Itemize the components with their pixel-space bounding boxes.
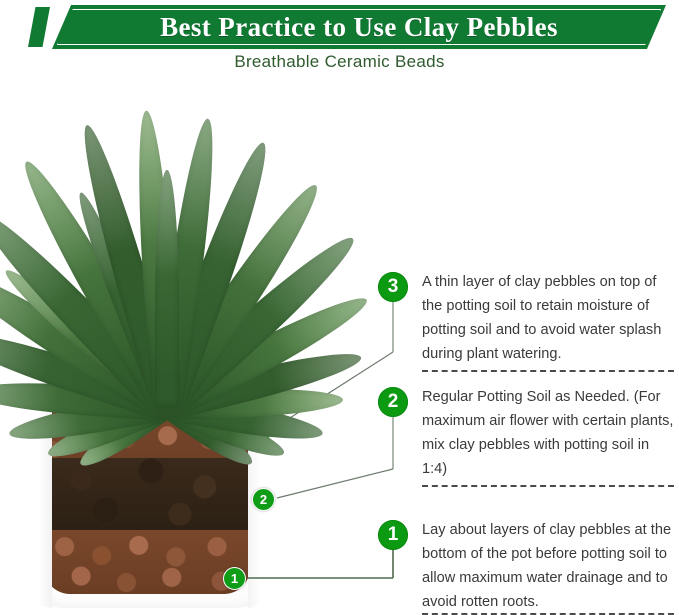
callout-2-divider [422,485,674,487]
callout-2-text: Regular Potting Soil as Needed. (For max… [422,385,674,481]
callout-1-badge[interactable]: 1 [378,520,408,550]
callout-1-text: Lay about layers of clay pebbles at the … [422,518,674,614]
callout-3-text: A thin layer of clay pebbles on top of t… [422,270,674,366]
infographic-root: Best Practice to Use Clay Pebbles Breath… [0,0,679,614]
image-marker-2[interactable]: 2 [252,488,275,511]
callout-3-divider [422,370,674,372]
callout-2-badge[interactable]: 2 [378,387,408,417]
callout-3-badge[interactable]: 3 [378,272,408,302]
image-marker-1[interactable]: 1 [223,567,246,590]
